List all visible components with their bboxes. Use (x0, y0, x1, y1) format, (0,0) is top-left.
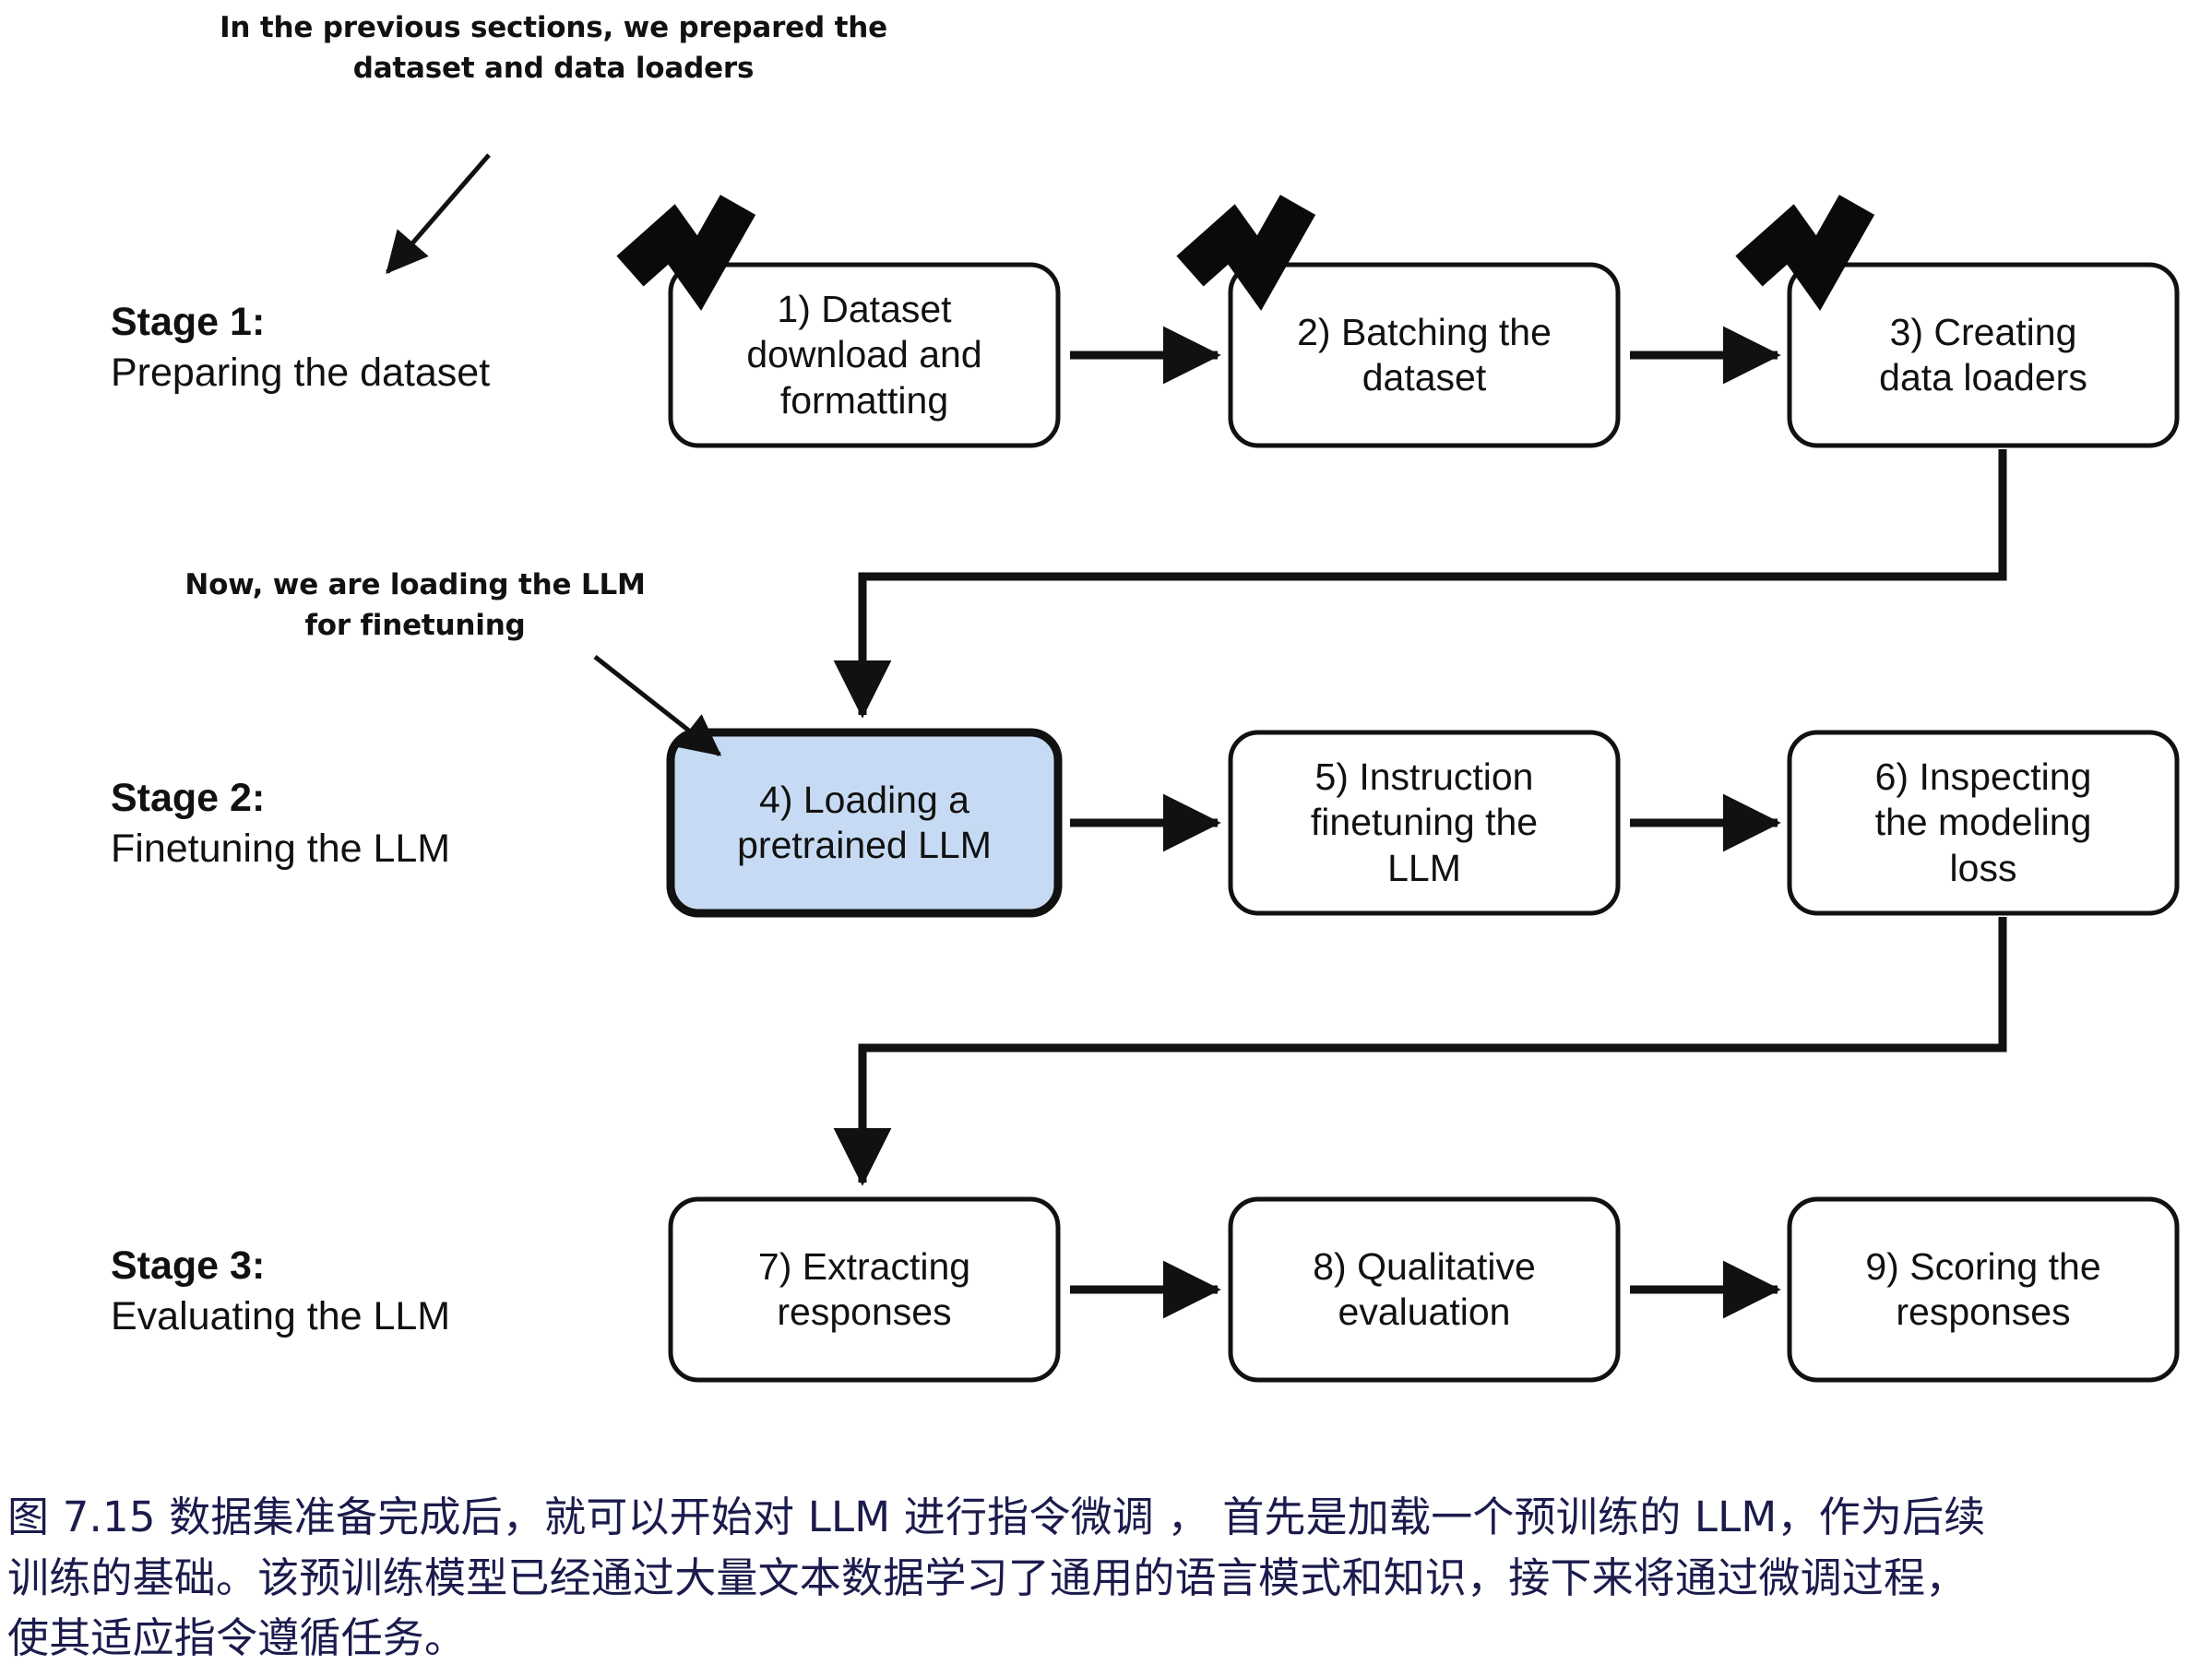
stage-label-3: Stage 3: Evaluating the LLM (111, 1241, 450, 1342)
checkmark-icon-step2 (1190, 205, 1298, 273)
stage-label-1: Stage 1: Preparing the dataset (111, 297, 490, 398)
figure-caption: 图 7.15 数据集准备完成后，就可以开始对 LLM 进行指令微调 ， 首先是加… (7, 1487, 2206, 1669)
annotation-arrow-stage2 (595, 657, 719, 755)
step-box-5[interactable] (1231, 732, 1618, 913)
caption-line-3: 使其适应指令遵循任务。 (7, 1608, 2206, 1669)
annotation-stage2-line2: for finetuning (120, 605, 710, 646)
checkmark-icon-step3 (1749, 205, 1857, 273)
step-box-8[interactable] (1231, 1199, 1618, 1380)
annotation-arrow-stage1 (387, 155, 489, 272)
stage-3-title: Stage 3: (111, 1241, 450, 1291)
stage-3-subtitle: Evaluating the LLM (111, 1291, 450, 1342)
stage-1-title: Stage 1: (111, 297, 490, 348)
stage-label-2: Stage 2: Finetuning the LLM (111, 773, 450, 874)
checkmark-icon-step1 (630, 205, 738, 273)
annotation-stage2-line1: Now, we are loading the LLM (120, 565, 710, 605)
step-box-1[interactable] (671, 265, 1058, 446)
step-box-4[interactable] (671, 732, 1058, 913)
annotation-stage1-line1: In the previous sections, we prepared th… (138, 7, 969, 48)
stage-1-subtitle: Preparing the dataset (111, 348, 490, 398)
step-box-2[interactable] (1231, 265, 1618, 446)
step-box-6[interactable] (1790, 732, 2177, 913)
caption-line-1: 图 7.15 数据集准备完成后，就可以开始对 LLM 进行指令微调 ， 首先是加… (7, 1487, 2206, 1548)
step-box-9[interactable] (1790, 1199, 2177, 1380)
step-box-3[interactable] (1790, 265, 2177, 446)
connector-step6-to-step7 (862, 917, 2003, 1183)
connector-step3-to-step4 (862, 449, 2003, 715)
annotation-stage2: Now, we are loading the LLM for finetuni… (120, 565, 710, 646)
stage-2-title: Stage 2: (111, 773, 450, 824)
stage-2-subtitle: Finetuning the LLM (111, 824, 450, 874)
step-box-7[interactable] (671, 1199, 1058, 1380)
annotation-stage1: In the previous sections, we prepared th… (138, 7, 969, 89)
annotation-stage1-line2: dataset and data loaders (138, 48, 969, 89)
figure-flowchart: In the previous sections, we prepared th… (0, 0, 2212, 1677)
caption-line-2: 训练的基础。该预训练模型已经通过大量文本数据学习了通用的语言模式和知识，接下来将… (7, 1548, 2206, 1609)
